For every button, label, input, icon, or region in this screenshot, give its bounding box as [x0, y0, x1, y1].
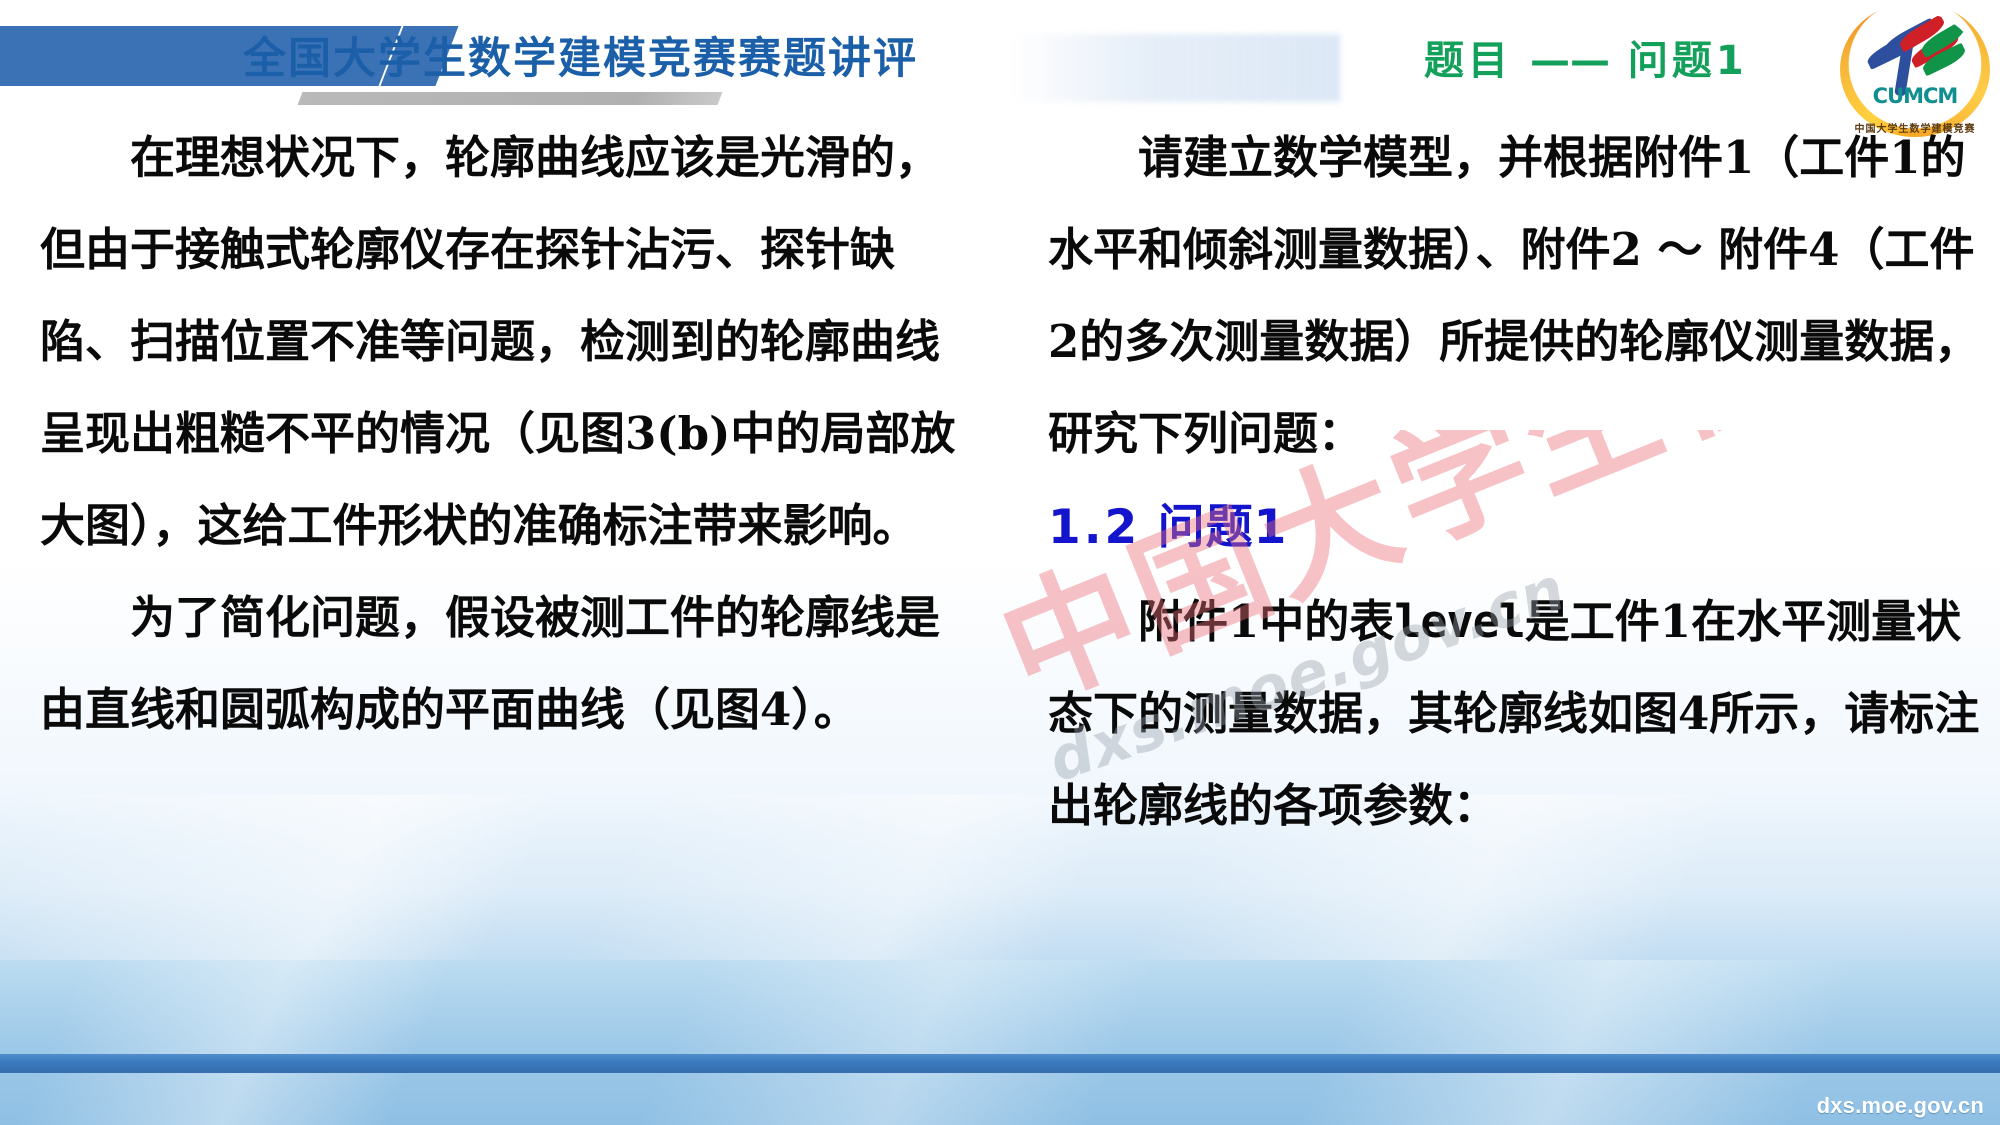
- footer-url: dxs.moe.gov.cn: [1817, 1093, 1984, 1119]
- right-paragraph-2: 附件1中的表level是工件1在水平测量状态下的测量数据，其轮廓线如图4所示，请…: [1048, 576, 1988, 852]
- right-paragraph-1: 请建立数学模型，并根据附件1（工件1的水平和倾斜测量数据）、附件2 ～ 附件4（…: [1048, 112, 1988, 480]
- header-title: 全国大学生数学建模竞赛赛题讲评: [243, 24, 918, 86]
- subheading-number: 1.2: [1048, 500, 1140, 555]
- right-paragraph-2-table-name: level: [1394, 595, 1524, 648]
- left-text-column: 在理想状况下，轮廓曲线应该是光滑的，但由于接触式轮廓仪存在探针沾污、探针缺陷、扫…: [40, 112, 975, 756]
- section-subheading: 1.2 问题1: [1048, 480, 1988, 576]
- header-subtitle-left: 题目: [1424, 38, 1512, 84]
- header-subtitle: 题目 —— 问题1: [1424, 28, 1748, 86]
- logo-acronym: CUMCM: [1851, 84, 1979, 108]
- left-paragraph-2: 为了简化问题，假设被测工件的轮廓线是由直线和圆弧构成的平面曲线（见图4）。: [40, 572, 975, 756]
- background-bottom-band: [0, 960, 2000, 1125]
- subheading-label: 问题1: [1158, 500, 1288, 555]
- right-paragraph-2-part-a: 附件1中的表: [1138, 595, 1394, 648]
- left-paragraph-1: 在理想状况下，轮廓曲线应该是光滑的，但由于接触式轮廓仪存在探针沾污、探针缺陷、扫…: [40, 112, 975, 572]
- footer-blue-bar: [0, 1054, 2000, 1073]
- logo-inner-disc: CUMCM: [1851, 12, 1979, 127]
- header-subtitle-right: 问题1: [1628, 38, 1748, 84]
- header-ghost-panel: [1010, 34, 1340, 102]
- slide-canvas: 全国大学生数学建模竞赛赛题讲评 题目 —— 问题1 CUMCM 中国大学生数学建…: [0, 0, 2000, 1125]
- header-gray-bar: [298, 92, 723, 105]
- header-subtitle-dash: ——: [1530, 38, 1610, 84]
- slide-header: 全国大学生数学建模竞赛赛题讲评 题目 —— 问题1 CUMCM 中国大学生数学建…: [0, 0, 2000, 112]
- right-text-column: 请建立数学模型，并根据附件1（工件1的水平和倾斜测量数据）、附件2 ～ 附件4（…: [1048, 112, 1988, 852]
